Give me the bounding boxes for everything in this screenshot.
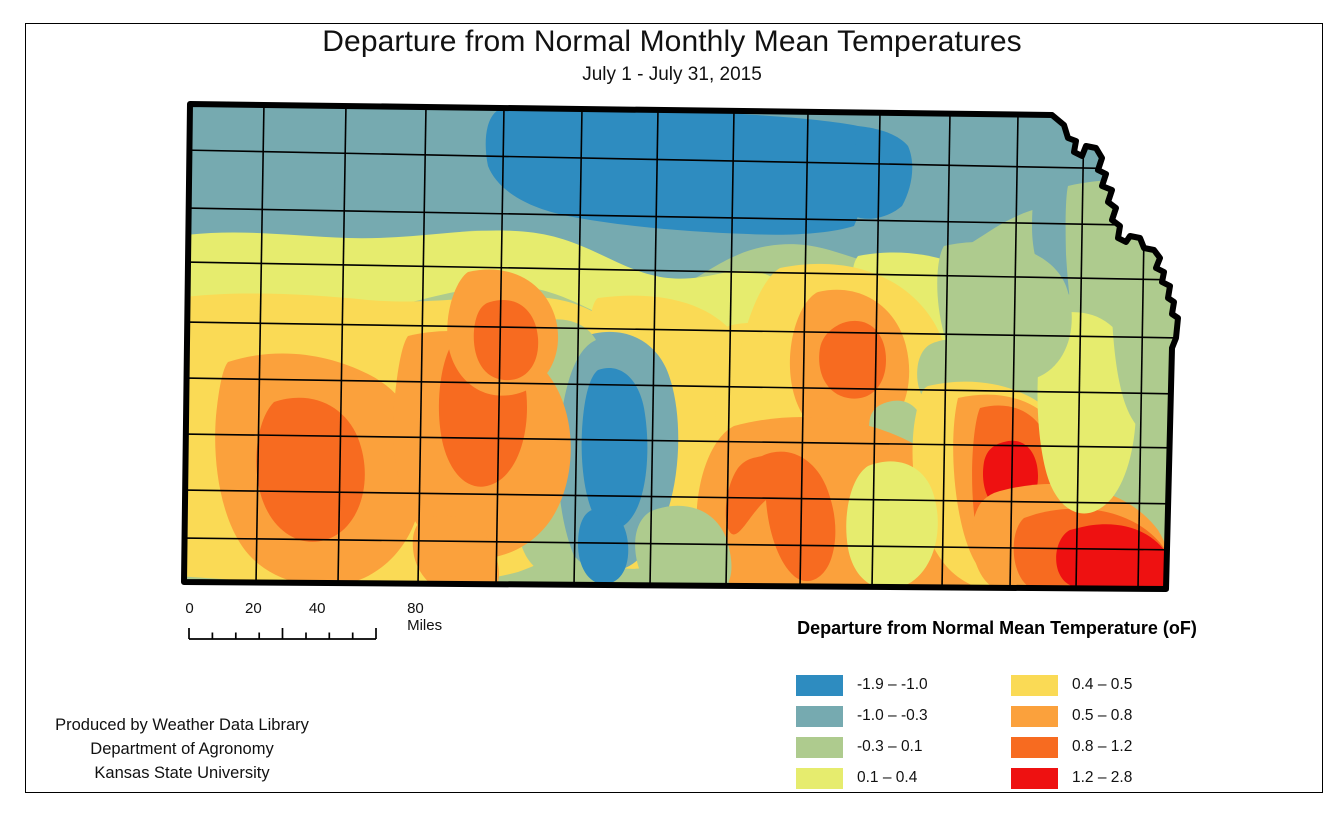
scale-tick-label-80: 80 Miles: [407, 600, 448, 634]
credit-line-1: Produced by Weather Data Library: [32, 714, 332, 738]
legend-swatch: [796, 768, 843, 789]
credit-block: Produced by Weather Data Library Departm…: [32, 714, 332, 786]
legend-item: 0.5 – 0.8: [1011, 702, 1226, 730]
credit-line-3: Kansas State University: [32, 762, 332, 786]
legend-swatch: [796, 737, 843, 758]
scale-bar-labels: 0 20 40 80 Miles: [178, 600, 468, 620]
legend-title: Departure from Normal Mean Temperature (…: [742, 618, 1252, 639]
scale-tick-label-40: 40: [309, 600, 326, 617]
scale-tick-label-0: 0: [185, 600, 193, 617]
legend-label: -0.3 – 0.1: [857, 738, 923, 756]
legend-label: 1.2 – 2.8: [1072, 769, 1132, 787]
legend-label: -1.9 – -1.0: [857, 676, 928, 694]
legend-item: 0.1 – 0.4: [796, 764, 1011, 792]
contour-fill-layers: [168, 86, 1188, 606]
legend-column-right: 0.4 – 0.5 0.5 – 0.8 0.8 – 1.2 1.2 – 2.8: [1011, 671, 1226, 795]
legend-columns: -1.9 – -1.0 -1.0 – -0.3 -0.3 – 0.1 0.1 –…: [742, 671, 1252, 795]
legend-swatch: [1011, 768, 1058, 789]
legend-swatch: [1011, 737, 1058, 758]
legend-item: -1.9 – -1.0: [796, 671, 1011, 699]
page-title: Departure from Normal Monthly Mean Tempe…: [0, 24, 1344, 59]
contour-band-darkorange-nw-blob: [474, 300, 538, 380]
legend-swatch: [796, 675, 843, 696]
legend-label: 0.8 – 1.2: [1072, 738, 1132, 756]
scale-tick-label-20: 20: [245, 600, 262, 617]
legend-label: 0.5 – 0.8: [1072, 707, 1132, 725]
legend-item: 0.8 – 1.2: [1011, 733, 1226, 761]
title-block: Departure from Normal Monthly Mean Tempe…: [0, 24, 1344, 87]
legend-label: 0.1 – 0.4: [857, 769, 917, 787]
legend-swatch: [1011, 675, 1058, 696]
page-subtitle: July 1 - July 31, 2015: [0, 64, 1344, 87]
legend-item: 0.4 – 0.5: [1011, 671, 1226, 699]
credit-line-2: Department of Agronomy: [32, 738, 332, 762]
legend-label: 0.4 – 0.5: [1072, 676, 1132, 694]
map-page: Departure from Normal Monthly Mean Tempe…: [0, 0, 1344, 816]
legend-column-left: -1.9 – -1.0 -1.0 – -0.3 -0.3 – 0.1 0.1 –…: [796, 671, 1011, 795]
legend-item: 1.2 – 2.8: [1011, 764, 1226, 792]
legend-swatch: [796, 706, 843, 727]
legend-swatch: [1011, 706, 1058, 727]
legend-item: -1.0 – -0.3: [796, 702, 1011, 730]
map-svg: [168, 86, 1188, 606]
scale-bar: 0 20 40 80 Miles: [178, 600, 468, 644]
kansas-choropleth-map: [168, 86, 1188, 606]
legend: Departure from Normal Mean Temperature (…: [742, 618, 1252, 795]
legend-label: -1.0 – -0.3: [857, 707, 928, 725]
legend-item: -0.3 – 0.1: [796, 733, 1011, 761]
contour-band-blue-central-finger: [582, 368, 648, 529]
